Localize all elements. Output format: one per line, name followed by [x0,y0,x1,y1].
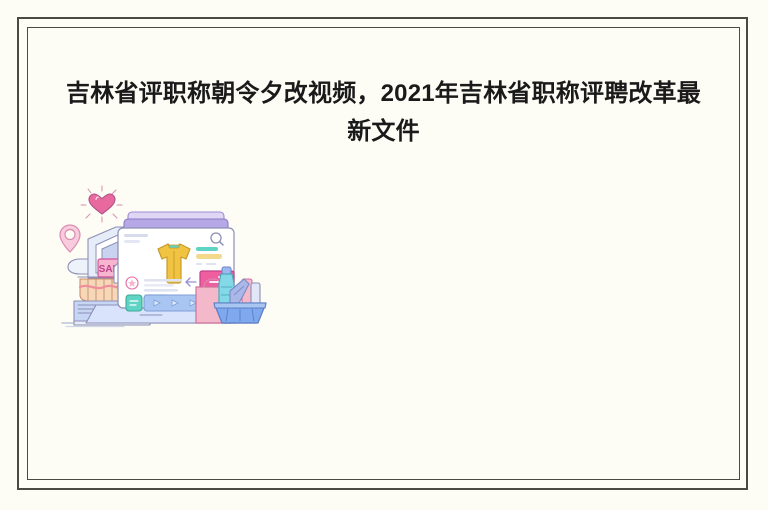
location-pin-icon [60,225,80,252]
online-shopping-illustration: .ln { fill:none; stroke:#8d8fb5; stroke-… [44,183,274,343]
content-area: 吉林省评职称朝令夕改视频，2021年吉林省职称评聘改革最新文件 .ln { fi… [28,28,739,479]
heart-sparkle-icon [81,186,122,222]
illustration-svg: .ln { fill:none; stroke:#8d8fb5; stroke-… [44,183,274,343]
page-title: 吉林省评职称朝令夕改视频，2021年吉林省职称评聘改革最新文件 [56,75,711,151]
shopping-basket [214,303,266,323]
page-root: 吉林省评职称朝令夕改视频，2021年吉林省职称评聘改革最新文件 .ln { fi… [0,0,768,510]
accent-bar-teal [196,247,218,251]
accent-bar-yellow [196,254,222,259]
